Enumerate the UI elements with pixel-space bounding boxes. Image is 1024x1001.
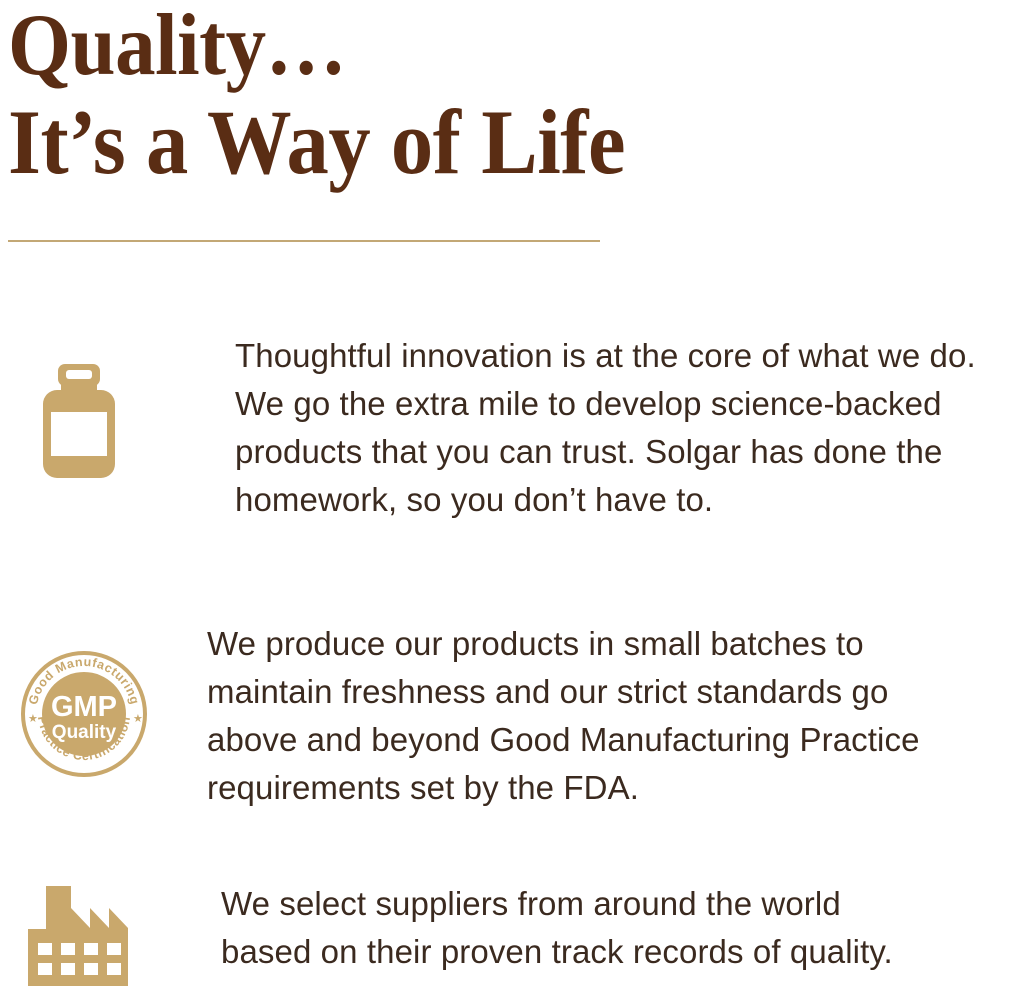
page-title: Quality… It’s a Way of Life	[8, 0, 1008, 190]
feature-paragraph: We select suppliers from around the worl…	[221, 880, 1018, 976]
feature-row-suppliers: We select suppliers from around the worl…	[0, 880, 1024, 986]
gmp-quality-seal-icon: ★ ★ Good Manufacturing Practice Certific…	[14, 644, 154, 784]
feature-paragraph: Thoughtful innovation is at the core of …	[235, 332, 1018, 524]
feature-paragraph: We produce our products in small batches…	[207, 620, 1018, 812]
feature-icon-cell	[0, 880, 221, 986]
feature-row-innovation: Thoughtful innovation is at the core of …	[0, 332, 1024, 524]
page-title-line-1: Quality…	[8, 0, 928, 94]
gmp-center-line-2: Quality	[52, 722, 117, 743]
factory-icon	[28, 886, 131, 986]
quality-brand-panel: Quality… It’s a Way of Life Thoughtful i…	[0, 0, 1024, 1001]
page-title-line-2: It’s a Way of Life	[8, 94, 928, 190]
svg-text:★: ★	[133, 713, 143, 725]
feature-row-small-batches: ★ ★ Good Manufacturing Practice Certific…	[0, 620, 1024, 812]
feature-text-cell: We produce our products in small batches…	[207, 620, 1024, 812]
feature-text-cell: We select suppliers from around the worl…	[221, 880, 1024, 976]
gmp-center-line-1: GMP	[51, 691, 117, 723]
header-divider	[8, 240, 600, 242]
feature-icon-cell: ★ ★ Good Manufacturing Practice Certific…	[0, 620, 207, 784]
feature-text-cell: Thoughtful innovation is at the core of …	[235, 332, 1024, 524]
feature-icon-cell	[0, 332, 235, 478]
supplement-bottle-icon	[42, 364, 116, 478]
